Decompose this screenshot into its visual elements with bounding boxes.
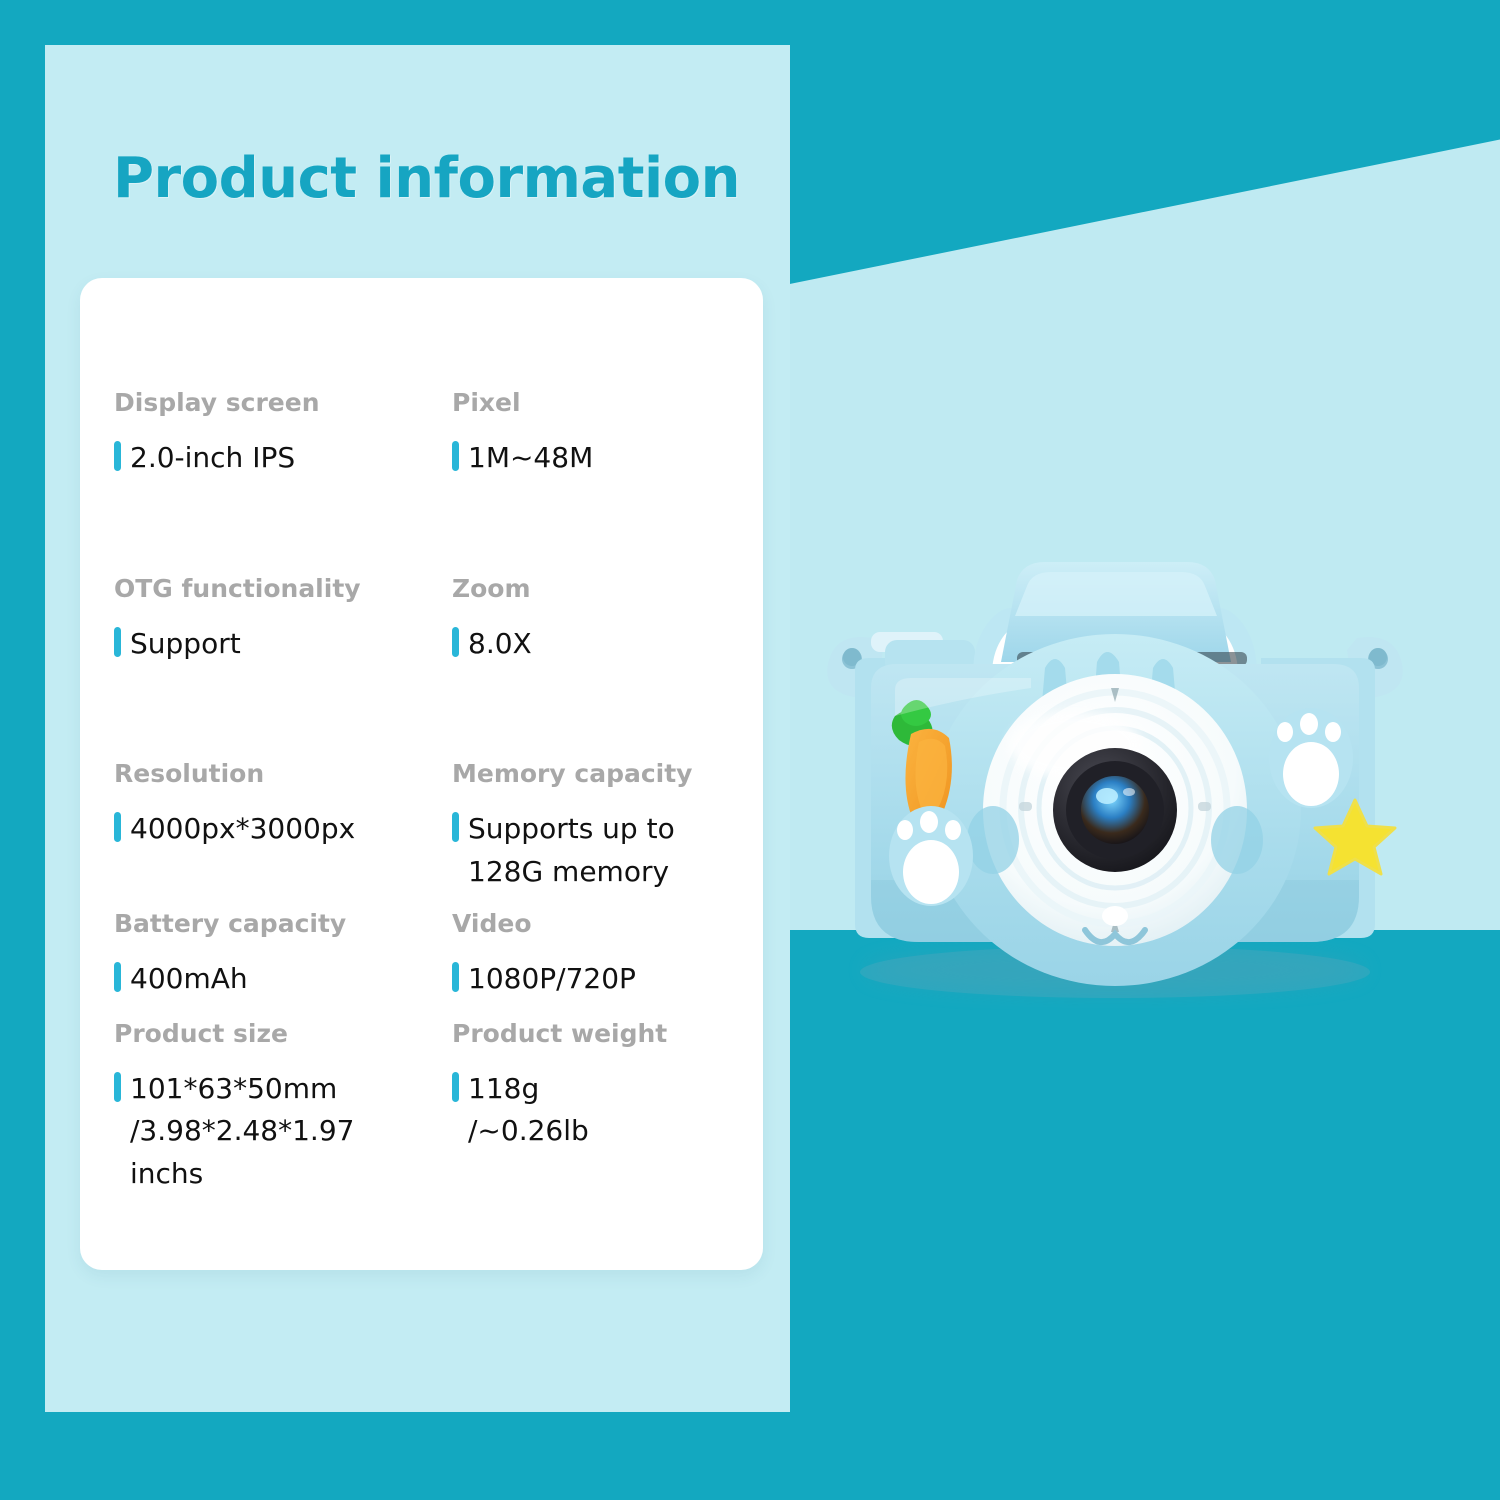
spec-value: 101*63*50mm /3.98*2.48*1.97 inchs <box>130 1068 432 1196</box>
spec-value: 1M~48M <box>468 437 593 480</box>
spec-value-row: 1M~48M <box>452 437 763 480</box>
spec-value: 118g /~0.26lb <box>468 1068 589 1153</box>
cheek-button-left <box>967 806 1019 874</box>
spec-value: 2.0-inch IPS <box>130 437 295 480</box>
product-information-page: Product information Display screen 2.0-i… <box>0 0 1500 1500</box>
spec-label: Display screen <box>114 390 432 415</box>
spec-item-battery-capacity: Battery capacity 400mAh <box>80 911 432 1001</box>
lens-glint <box>1096 788 1118 804</box>
spec-label: Pixel <box>452 390 763 415</box>
spec-item-video: Video 1080P/720P <box>432 911 763 1001</box>
spec-label: Product size <box>114 1021 432 1046</box>
row-spacer <box>80 665 432 761</box>
spec-item-product-weight: Product weight 118g /~0.26lb <box>432 1021 763 1196</box>
accent-bar-icon <box>452 812 459 842</box>
accent-bar-icon <box>114 1072 121 1102</box>
row-spacer <box>80 480 432 576</box>
spec-item-memory-capacity: Memory capacity Supports up to 128G memo… <box>432 761 763 893</box>
spec-item-pixel: Pixel 1M~48M <box>432 390 763 480</box>
spec-label: Zoom <box>452 576 763 601</box>
spec-value-row: 400mAh <box>114 958 432 1001</box>
spec-value: Support <box>130 623 241 666</box>
spec-value: Supports up to 128G memory <box>468 808 675 893</box>
accent-bar-icon <box>452 962 459 992</box>
spec-value: 400mAh <box>130 958 248 1001</box>
row-spacer <box>432 1001 763 1021</box>
camera-illustration <box>745 520 1485 1020</box>
spec-item-display-screen: Display screen 2.0-inch IPS <box>80 390 432 480</box>
accent-bar-icon <box>114 812 121 842</box>
spec-item-resolution: Resolution 4000px*3000px <box>80 761 432 893</box>
accent-bar-icon <box>114 962 121 992</box>
spec-value: 4000px*3000px <box>130 808 355 851</box>
spec-value-row: 1080P/720P <box>452 958 763 1001</box>
flash-hood-highlight <box>1015 572 1217 616</box>
spec-label: OTG functionality <box>114 576 432 601</box>
cheek-button-right <box>1211 806 1263 874</box>
spec-item-otg-functionality: OTG functionality Support <box>80 576 432 666</box>
lens-glint-small <box>1123 788 1135 796</box>
spec-value-row: 101*63*50mm /3.98*2.48*1.97 inchs <box>114 1068 432 1196</box>
spec-label: Resolution <box>114 761 432 786</box>
spec-label: Video <box>452 911 763 936</box>
spec-item-zoom: Zoom 8.0X <box>432 576 763 666</box>
paw-print-left-icon <box>889 806 973 906</box>
spec-value-row: 118g /~0.26lb <box>452 1068 763 1153</box>
accent-bar-icon <box>452 627 459 657</box>
lens-marker-right <box>1198 802 1211 811</box>
accent-bar-icon <box>452 1072 459 1102</box>
accent-bar-icon <box>114 627 121 657</box>
bunny-nose-icon <box>1102 906 1128 926</box>
spec-value: 8.0X <box>468 623 532 666</box>
paw-print-right-icon <box>1269 708 1353 808</box>
specification-card: Display screen 2.0-inch IPS Pixel 1M~48M… <box>80 278 763 1270</box>
spec-label: Memory capacity <box>452 761 763 786</box>
row-spacer <box>432 480 763 576</box>
spec-value-row: 4000px*3000px <box>114 808 432 851</box>
accent-bar-icon <box>452 441 459 471</box>
lens-iris <box>1081 776 1149 844</box>
specification-grid: Display screen 2.0-inch IPS Pixel 1M~48M… <box>80 390 763 1195</box>
accent-bar-icon <box>114 441 121 471</box>
product-image-kids-bunny-camera <box>745 520 1485 1020</box>
spec-value-row: 2.0-inch IPS <box>114 437 432 480</box>
spec-value-row: Supports up to 128G memory <box>452 808 763 893</box>
spec-value-row: Support <box>114 623 432 666</box>
spec-value: 1080P/720P <box>468 958 636 1001</box>
spec-label: Product weight <box>452 1021 763 1046</box>
lens-marker-left <box>1019 802 1032 811</box>
spec-item-product-size: Product size 101*63*50mm /3.98*2.48*1.97… <box>80 1021 432 1196</box>
spec-label: Battery capacity <box>114 911 432 936</box>
page-title: Product information <box>113 146 740 211</box>
spec-value-row: 8.0X <box>452 623 763 666</box>
row-spacer <box>432 665 763 761</box>
row-spacer <box>80 1001 432 1021</box>
